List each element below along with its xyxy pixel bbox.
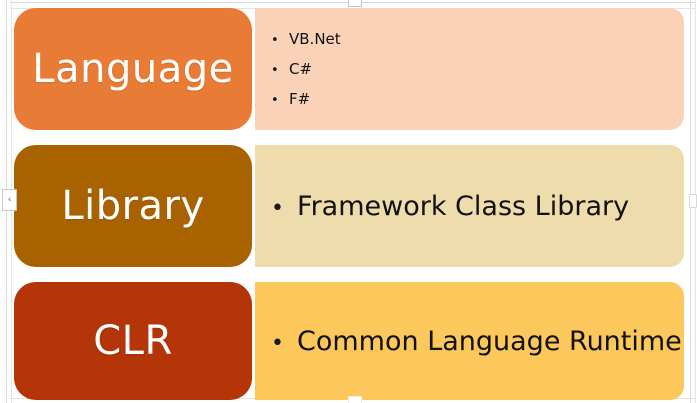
diagram-label-library-text: Library — [61, 183, 204, 229]
bullet-icon: • — [271, 34, 289, 47]
bullet-icon: • — [271, 64, 289, 77]
bullet-icon: • — [271, 94, 289, 107]
list-item-label: C# — [289, 60, 312, 78]
smartart-diagram[interactable]: Language • VB.Net • C# • F# Librar — [14, 8, 684, 396]
selection-handle-top[interactable] — [348, 0, 362, 7]
diagram-label-library[interactable]: Library — [14, 145, 252, 267]
list-item: • Framework Class Library — [271, 191, 684, 222]
diagram-label-clr-text: CLR — [93, 318, 173, 364]
chevron-left-icon: ‹ — [8, 196, 12, 205]
diagram-content-language[interactable]: • VB.Net • C# • F# — [255, 8, 684, 130]
list-item-label: VB.Net — [289, 30, 341, 48]
diagram-row-language[interactable]: Language • VB.Net • C# • F# — [14, 8, 684, 130]
diagram-content-library[interactable]: • Framework Class Library — [255, 145, 684, 267]
slide-canvas: ‹ Language • VB.Net • C# • F# — [0, 0, 697, 403]
diagram-label-clr[interactable]: CLR — [14, 282, 252, 400]
selection-handle-right[interactable] — [689, 194, 697, 208]
diagram-label-language[interactable]: Language — [14, 8, 252, 130]
list-item-label: F# — [289, 90, 310, 108]
diagram-row-clr[interactable]: CLR • Common Language Runtime — [14, 282, 684, 400]
list-item: • F# — [271, 90, 684, 108]
list-item-label: Framework Class Library — [297, 191, 629, 222]
list-item: • C# — [271, 60, 684, 78]
diagram-label-language-text: Language — [32, 46, 233, 92]
list-item-label: Common Language Runtime — [297, 326, 682, 357]
pane-collapse-button[interactable]: ‹ — [2, 189, 17, 211]
bullet-icon: • — [271, 198, 297, 220]
bullet-icon: • — [271, 333, 297, 355]
list-item: • VB.Net — [271, 30, 684, 48]
selection-handle-bottom[interactable] — [348, 396, 362, 403]
diagram-row-library[interactable]: Library • Framework Class Library — [14, 145, 684, 267]
diagram-content-clr[interactable]: • Common Language Runtime — [255, 282, 684, 400]
list-item: • Common Language Runtime — [271, 326, 684, 357]
